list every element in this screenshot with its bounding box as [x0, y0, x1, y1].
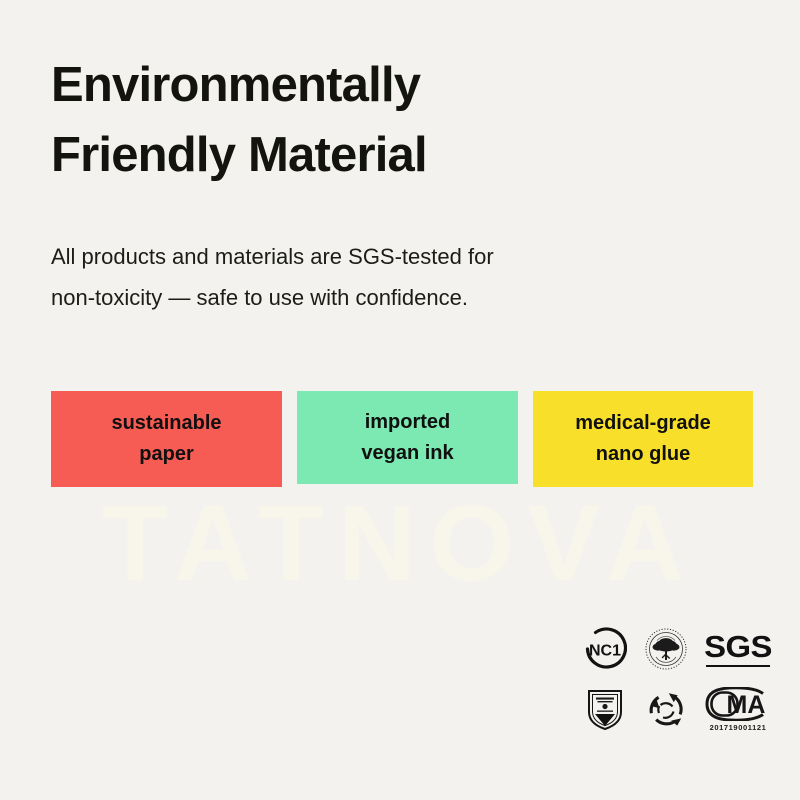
shield-badge-icon [584, 686, 626, 732]
chip-label-line-1: medical-grade [575, 408, 711, 439]
sgs-logo-underline [706, 665, 770, 667]
poster-canvas: TATNOVA Environmentally Friendly Materia… [0, 0, 800, 800]
nc1-icon: NC1 [583, 627, 627, 671]
cma-badge: MA 201719001121 [696, 680, 780, 738]
certification-row-top: NC1 [574, 620, 780, 678]
page-title-line-2: Friendly Material [51, 120, 671, 190]
chip-label-line-2: paper [139, 439, 193, 470]
recycle-badge [636, 680, 696, 738]
material-chip-imported-vegan-ink: imported vegan ink [297, 391, 518, 484]
cma-mark-icon: MA [701, 687, 775, 721]
sgs-logo-text: SGS [704, 631, 772, 662]
shield-badge [574, 680, 636, 738]
certification-badges: NC1 [574, 620, 780, 738]
cma-certificate-number: 201719001121 [710, 723, 767, 732]
chip-label-line-2: nano glue [596, 439, 690, 470]
material-chip-sustainable-paper: sustainable paper [51, 391, 282, 487]
chip-label-line-1: imported [365, 407, 451, 438]
sgs-badge: SGS [696, 620, 780, 678]
svg-text:MA: MA [727, 691, 766, 719]
material-chip-medical-grade-nano-glue: medical-grade nano glue [533, 391, 753, 487]
chip-label-line-1: sustainable [111, 408, 221, 439]
cma-mark: MA 201719001121 [701, 687, 775, 732]
page-title-line-1: Environmentally [51, 50, 671, 120]
page-subtitle-line-2: non-toxicity — safe to use with confiden… [51, 277, 651, 318]
material-chip-row: sustainable paper imported vegan ink med… [51, 391, 753, 487]
fsc-tree-seal-badge [636, 620, 696, 678]
recycle-icon [644, 687, 688, 731]
sgs-logo: SGS [706, 631, 770, 667]
page-title: Environmentally Friendly Material [51, 50, 671, 190]
brand-watermark: TATNOVA [0, 484, 800, 602]
certification-row-bottom: MA 201719001121 [574, 680, 780, 738]
svg-text:NC1: NC1 [589, 643, 621, 660]
page-subtitle-line-1: All products and materials are SGS-teste… [51, 236, 651, 277]
chip-label-line-2: vegan ink [361, 438, 453, 469]
page-subtitle: All products and materials are SGS-teste… [51, 236, 651, 318]
fsc-tree-seal-icon [644, 627, 688, 671]
nc1-badge: NC1 [574, 620, 636, 678]
